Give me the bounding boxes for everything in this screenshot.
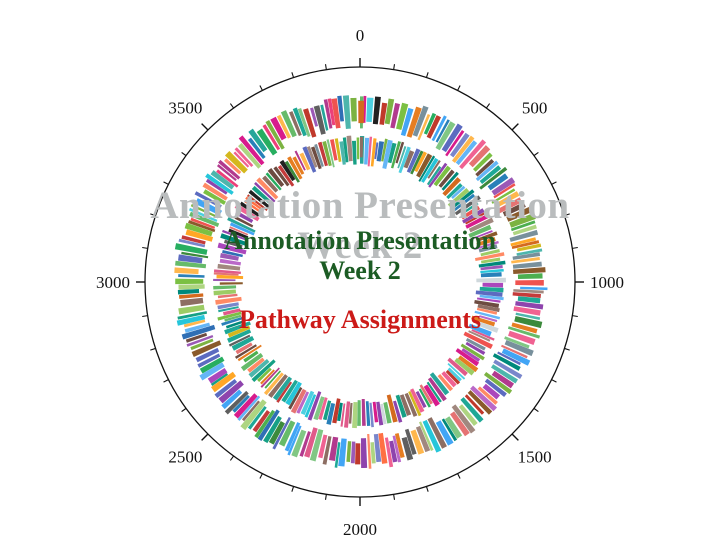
genome-feature <box>346 441 351 462</box>
genome-feature <box>180 298 203 306</box>
genome-feature <box>352 141 357 165</box>
axis-tick-minor <box>572 316 577 317</box>
axis-tick-minor <box>572 248 577 249</box>
axis-tick-minor <box>552 182 557 184</box>
axis-tick-minor <box>164 380 169 382</box>
axis-tick-minor <box>458 86 460 91</box>
genome-feature <box>362 399 366 426</box>
axis-tick-major <box>202 434 208 440</box>
axis-tick-major <box>512 124 518 130</box>
axis-tick-minor <box>260 86 262 91</box>
axis-tick-minor <box>326 494 327 499</box>
genome-feature <box>366 98 373 122</box>
axis-tick-minor <box>182 408 186 411</box>
genome-feature <box>367 434 371 469</box>
axis-tick-minor <box>292 486 294 491</box>
genome-feature <box>178 284 204 289</box>
genome-feature <box>361 438 367 468</box>
axis-tick-minor <box>534 152 538 155</box>
genome-feature <box>357 137 360 159</box>
axis-tick-minor <box>458 474 460 479</box>
axis-tick-minor <box>142 248 147 249</box>
axis-tick-minor <box>260 474 262 479</box>
axis-tick-minor <box>230 456 233 460</box>
axis-tick-minor <box>150 214 155 216</box>
axis-tick-minor <box>230 104 233 108</box>
axis-tick-label: 2000 <box>343 520 377 539</box>
presentation-slide: 0500100015002000250030003500 Annotation … <box>0 0 720 540</box>
genome-feature <box>216 275 243 279</box>
axis-tick-minor <box>564 214 569 216</box>
genome-feature <box>351 442 355 464</box>
genome-feature <box>520 287 547 290</box>
axis-tick-label: 500 <box>522 98 548 117</box>
genome-feature <box>483 283 504 288</box>
axis-tick-minor <box>182 152 186 155</box>
genome-feature <box>518 273 543 279</box>
axis-tick-minor <box>534 408 538 411</box>
axis-tick-label: 2500 <box>168 448 202 467</box>
genome-feature <box>175 279 203 285</box>
inner-feature-ring <box>213 136 506 428</box>
genome-feature <box>355 443 360 464</box>
genome-feature <box>352 402 357 428</box>
genome-feature <box>350 98 356 122</box>
axis-tick-minor <box>292 72 294 77</box>
genome-feature <box>373 96 381 124</box>
genome-feature <box>213 279 235 281</box>
axis-tick-minor <box>394 494 395 499</box>
axis-tick-minor <box>486 456 489 460</box>
axis-tick-minor <box>552 380 557 382</box>
genome-feature <box>220 282 243 284</box>
axis-tick-minor <box>150 348 155 350</box>
genome-feature <box>178 274 204 278</box>
axis-tick-minor <box>142 316 147 317</box>
axis-tick-minor <box>326 64 327 69</box>
axis-tick-minor <box>564 348 569 350</box>
genome-feature <box>213 285 236 289</box>
axis-tick-minor <box>164 182 169 184</box>
axis-tick-label: 0 <box>356 26 365 45</box>
axis-circle <box>145 67 575 497</box>
axis-tick-minor <box>486 104 489 108</box>
genome-feature <box>360 137 363 158</box>
axis-tick-label: 1000 <box>590 273 624 292</box>
genome-feature <box>515 280 544 286</box>
axis-tick-major <box>512 434 518 440</box>
axis-tick-minor <box>426 486 428 491</box>
genome-feature <box>174 267 198 274</box>
axis-tick-label: 1500 <box>518 448 552 467</box>
genome-feature <box>178 289 199 294</box>
axis-tick-major <box>202 124 208 130</box>
axis-tick-label: 3000 <box>96 273 130 292</box>
axis-tick-label: 3500 <box>168 98 202 117</box>
genome-feature <box>358 101 364 123</box>
genome-feature <box>357 400 361 426</box>
genome-feature <box>343 95 351 129</box>
circular-genome-map: 0500100015002000250030003500 <box>0 0 720 540</box>
axis-tick-minor <box>426 72 428 77</box>
genome-feature <box>476 278 506 283</box>
axis-tick-minor <box>394 64 395 69</box>
